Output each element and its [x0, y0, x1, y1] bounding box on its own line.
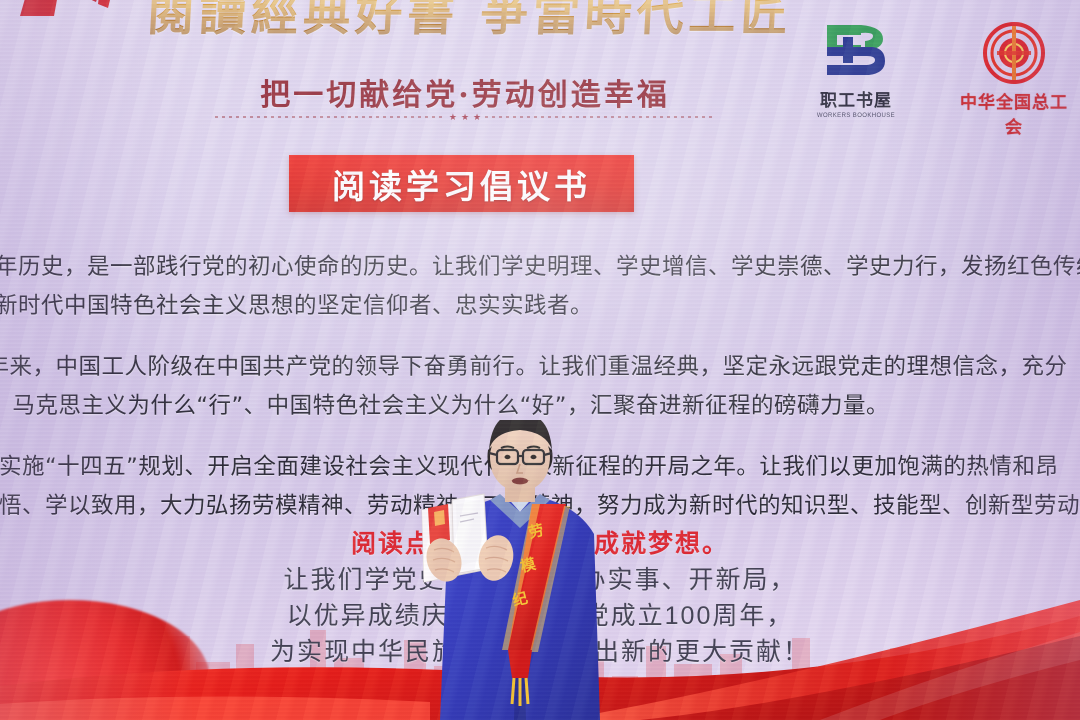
headline-wrap: 閱讀經典好書 爭當時代工匠: [130, 0, 810, 41]
logo-label-cn: 职工书屋: [800, 86, 912, 111]
main-headline: 閱讀經典好書 爭當時代工匠: [129, 0, 812, 41]
red-flag-icon: [18, 0, 114, 20]
header-subtitle: 把一切献给党·劳动创造幸福: [205, 70, 725, 114]
divider-dots-right: [485, 116, 715, 118]
title-banner: 阅读学习倡议书: [289, 155, 634, 212]
logo-workers-bookhouse: 职工书屋 WORKERS BOOKHOUSE: [800, 22, 912, 119]
header-divider: ★ ★ ★: [215, 112, 715, 122]
logo-acftu: 中华全国总工会: [958, 22, 1070, 138]
stage-screen: 閱讀經典好書 爭當時代工匠 把一切献给党·劳动创造幸福 ★ ★ ★: [0, 0, 1080, 720]
divider-dots-left: [215, 116, 445, 118]
acftu-emblem-icon: [958, 22, 1070, 84]
zhigong-shuwu-monogram-icon: [800, 22, 912, 80]
logo-group: 职工书屋 WORKERS BOOKHOUSE 中华全国总工会: [800, 22, 1070, 138]
paragraph-2: 100年来，中国工人阶级在中国共产党的领导下奋勇前行。让我们重温经典，坚定永远跟…: [0, 348, 1080, 426]
slide-header: 閱讀經典好書 爭當時代工匠 把一切献给党·劳动创造幸福 ★ ★ ★: [0, 0, 1080, 140]
paragraph-1: 党的百年历史，是一部践行党的初心使命的历史。让我们学史明理、学史增信、学史崇德、…: [0, 248, 1080, 326]
logo-label-en: WORKERS BOOKHOUSE: [800, 113, 912, 119]
star-icon: ★: [473, 113, 481, 122]
paragraph-line: 党的百年历史，是一部践行党的初心使命的历史。让我们学史明理、学史增信、学史崇德、…: [0, 248, 1080, 287]
star-icon: ★: [461, 113, 469, 122]
paragraph-line: 习近平新时代中国特色社会主义思想的坚定信仰者、忠实实践者。: [0, 287, 1080, 326]
logo-label-cn: 中华全国总工会: [958, 88, 1070, 138]
star-icon: ★: [449, 113, 457, 122]
speaker-person: 劳 模 纪: [404, 420, 634, 720]
title-banner-label: 阅读学习倡议书: [332, 160, 591, 208]
paragraph-line: 100年来，中国工人阶级在中国共产党的领导下奋勇前行。让我们重温经典，坚定永远跟…: [0, 348, 1080, 387]
